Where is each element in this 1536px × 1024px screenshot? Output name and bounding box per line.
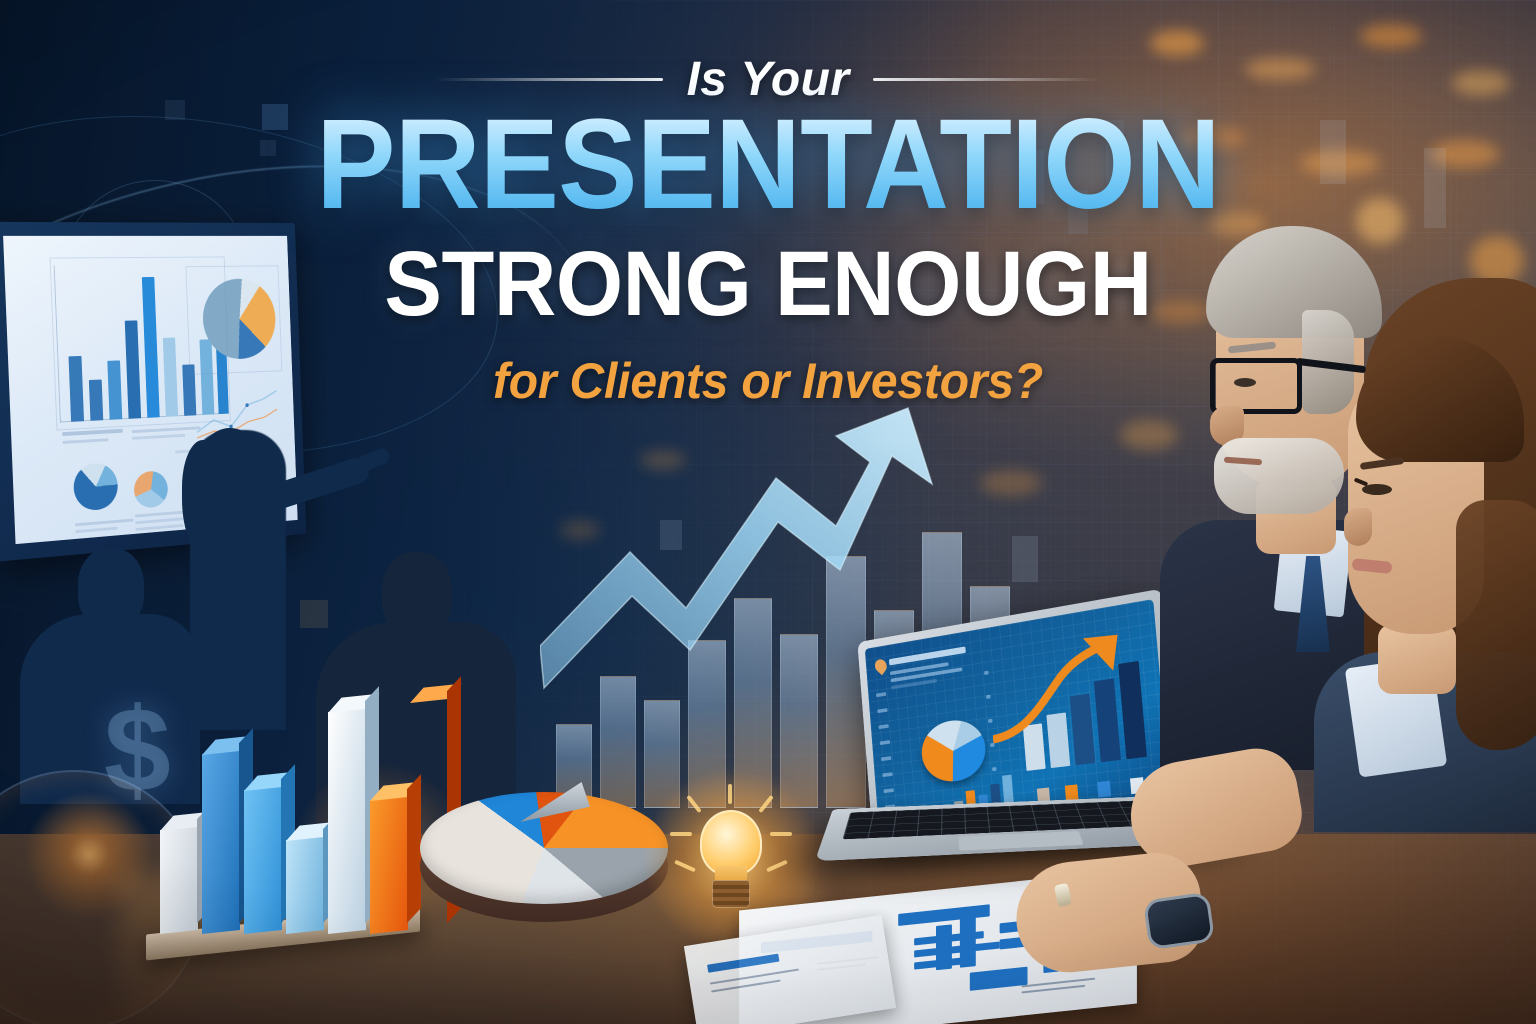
bar-3d-3	[244, 786, 282, 934]
divider-right	[873, 78, 1101, 81]
board-pie-chart-small-right	[133, 470, 168, 509]
light-bulb-icon	[678, 796, 784, 918]
pie-chart-3d	[414, 786, 676, 918]
wristwatch-icon	[1143, 892, 1215, 951]
poster-canvas: $	[0, 0, 1536, 1024]
bar-chart-3d	[160, 702, 420, 932]
divider-left	[435, 78, 663, 81]
bar-3d-4	[286, 836, 324, 934]
bar-3d-6	[370, 796, 408, 934]
dashboard-growth-arrow-icon	[986, 627, 1136, 752]
headline-line3: for Clients or Investors?	[31, 352, 1506, 410]
axis-label	[992, 767, 996, 771]
man-beard	[1214, 438, 1344, 514]
dashboard-legend-swatch	[1097, 781, 1111, 798]
light-ray	[728, 784, 732, 804]
light-ray	[670, 832, 692, 836]
headline-line2: STRONG ENOUGH	[46, 238, 1490, 330]
board-pie-chart-small-left	[73, 462, 119, 512]
bar-3d-2	[202, 750, 240, 934]
laptop-trackpad[interactable]	[959, 831, 1084, 851]
bar-3d-5	[328, 708, 366, 934]
light-bulb-base	[712, 880, 750, 908]
headline-line1: PRESENTATION	[54, 104, 1482, 227]
silhouette-presenter-hair	[182, 440, 234, 558]
woman-neck	[1378, 624, 1456, 694]
light-ray	[770, 832, 792, 836]
bar-3d-1	[160, 826, 198, 934]
woman-hair-strand	[1456, 500, 1536, 750]
woman-nose	[1344, 508, 1372, 546]
